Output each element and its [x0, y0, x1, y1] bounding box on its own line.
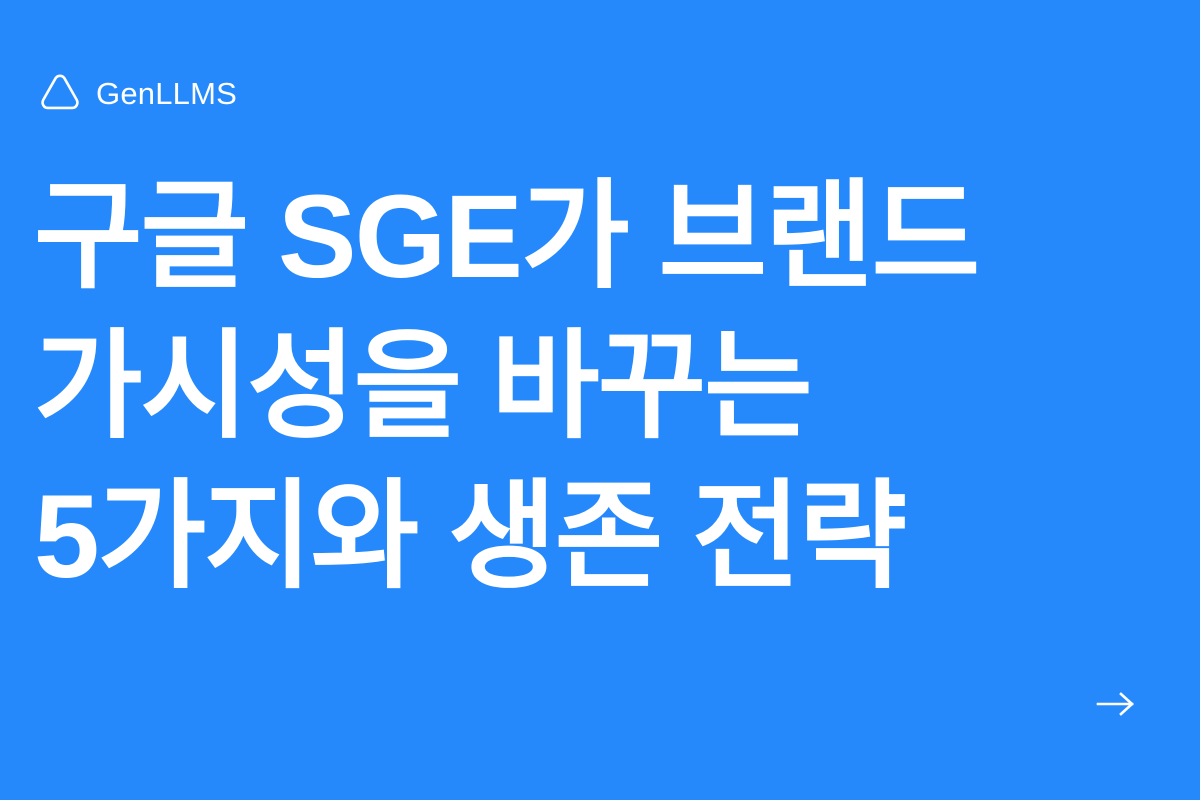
page-title: 구글 SGE가 브랜드 가시성을 바꾸는 5가지와 생존 전략 — [34, 162, 1174, 612]
rounded-triangle-icon — [38, 73, 82, 113]
brand-name: GenLLMS — [96, 78, 237, 109]
arrow-right-icon — [1096, 691, 1136, 717]
promo-card: GenLLMS 구글 SGE가 브랜드 가시성을 바꾸는 5가지와 생존 전략 — [0, 0, 1200, 800]
brand-lockup[interactable]: GenLLMS — [38, 70, 237, 116]
headline-line-1: 구글 SGE가 브랜드 — [34, 162, 1174, 312]
headline-line-2: 가시성을 바꾸는 — [34, 312, 1174, 462]
next-slide-button[interactable] — [1092, 682, 1140, 726]
headline-line-3: 5가지와 생존 전략 — [34, 462, 1174, 612]
